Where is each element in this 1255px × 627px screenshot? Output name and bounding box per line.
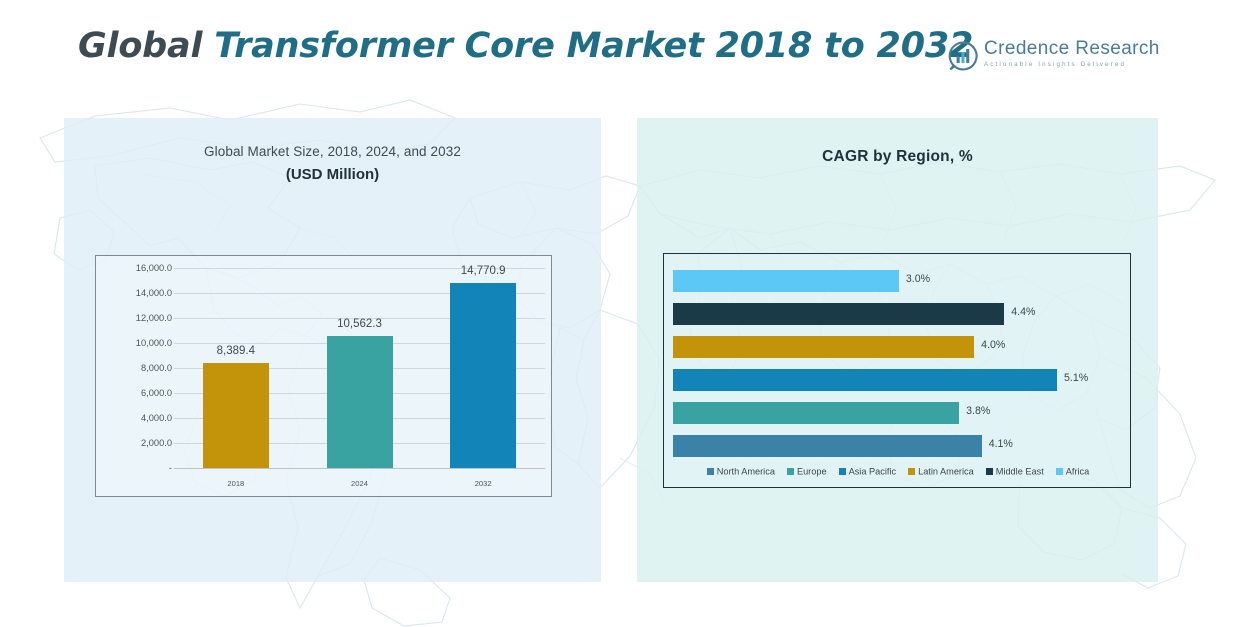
logo-text-block: Credence Research Actionable Insights De…	[984, 38, 1140, 68]
legend-label: Latin America	[918, 467, 974, 477]
y-axis-tick-label: 16,000.0	[110, 263, 172, 273]
legend-item[interactable]: Latin America	[908, 466, 974, 477]
legend-swatch	[986, 468, 993, 475]
right-chart-heading: CAGR by Region, %	[637, 148, 1158, 166]
y-axis-tick-label: 12,000.0	[110, 313, 172, 323]
cagr-value-label: 5.1%	[1064, 372, 1088, 384]
y-axis-tick-label: -	[110, 463, 172, 473]
left-chart-heading-line2: (USD Million)	[64, 166, 601, 183]
market-size-bar-group: 14,770.92032	[450, 283, 516, 468]
legend-label: Europe	[797, 467, 827, 477]
cagr-bar-row: 4.4%	[673, 300, 1123, 331]
legend-swatch	[908, 468, 915, 475]
y-axis-tick-label: 2,000.0	[110, 438, 172, 448]
bar-value-label: 8,389.4	[185, 345, 287, 357]
legend-swatch	[707, 468, 714, 475]
y-axis-tick-labels: 16,000.014,000.012,000.010,000.08,000.06…	[102, 256, 172, 498]
header: Global Transformer Core Market 2018 to 2…	[0, 0, 1255, 96]
cagr-bar-row: 5.1%	[673, 366, 1123, 397]
cagr-bar	[673, 369, 1057, 391]
legend-item[interactable]: North America	[707, 466, 775, 477]
cagr-value-label: 3.0%	[906, 273, 930, 285]
x-axis-tick-label: 2024	[309, 479, 411, 488]
page-title-part-1: Global	[78, 26, 214, 66]
legend-item[interactable]: Asia Pacific	[839, 466, 897, 477]
left-chart-heading: Global Market Size, 2018, 2024, and 2032…	[64, 144, 601, 183]
legend-swatch	[787, 468, 794, 475]
legend-label: Middle East	[996, 467, 1044, 477]
cagr-bar-row: 4.0%	[673, 333, 1123, 364]
cagr-bar	[673, 336, 974, 358]
bar-value-label: 14,770.9	[432, 265, 534, 277]
market-size-bar-group: 8,389.42018	[203, 363, 269, 468]
market-size-bar-chart: 16,000.014,000.012,000.010,000.08,000.06…	[95, 255, 552, 497]
x-axis-tick-label: 2018	[185, 479, 287, 488]
y-axis-tick-label: 8,000.0	[110, 363, 172, 373]
cagr-by-region-bar-chart: 3.0%4.4%4.0%5.1%3.8%4.1% North AmericaEu…	[663, 253, 1131, 488]
logo-tagline: Actionable Insights Delivered	[984, 61, 1140, 68]
legend-item[interactable]: Middle East	[986, 466, 1044, 477]
cagr-bar-row: 3.0%	[673, 267, 1123, 298]
cagr-bar-rows: 3.0%4.4%4.0%5.1%3.8%4.1%	[673, 267, 1123, 465]
infographic-canvas: Global Transformer Core Market 2018 to 2…	[0, 0, 1255, 627]
legend-swatch	[1056, 468, 1063, 475]
y-axis-tick-label: 6,000.0	[110, 388, 172, 398]
circle-bar-chart-icon	[948, 41, 978, 71]
legend-label: Asia Pacific	[849, 467, 897, 477]
x-axis-line	[174, 468, 545, 469]
legend-label: Africa	[1066, 467, 1090, 477]
cagr-value-label: 4.1%	[989, 438, 1013, 450]
legend-swatch	[839, 468, 846, 475]
credence-research-logo[interactable]: Credence Research Actionable Insights De…	[948, 40, 1138, 76]
legend-item[interactable]: Africa	[1056, 466, 1090, 477]
cagr-bar	[673, 303, 1004, 325]
market-size-bar	[327, 336, 393, 468]
cagr-value-label: 3.8%	[966, 405, 990, 417]
cagr-bar	[673, 435, 982, 457]
y-axis-tick-label: 4,000.0	[110, 413, 172, 423]
cagr-bar-row: 4.1%	[673, 432, 1123, 463]
cagr-bar	[673, 270, 899, 292]
bar-value-label: 10,562.3	[309, 318, 411, 330]
page-title: Global Transformer Core Market 2018 to 2…	[78, 26, 973, 66]
cagr-legend: North AmericaEuropeAsia PacificLatin Ame…	[664, 461, 1132, 479]
cagr-bar	[673, 402, 959, 424]
cagr-value-label: 4.4%	[1011, 306, 1035, 318]
logo-name: Credence Research	[984, 38, 1140, 60]
legend-label: North America	[717, 467, 775, 477]
market-size-bar	[450, 283, 516, 468]
y-axis-tick-label: 14,000.0	[110, 288, 172, 298]
market-size-bar	[203, 363, 269, 468]
cagr-bar-row: 3.8%	[673, 399, 1123, 430]
x-axis-tick-label: 2032	[432, 479, 534, 488]
left-chart-plot-area: 8,389.4201810,562.3202414,770.92032	[174, 256, 545, 498]
y-axis-tick-label: 10,000.0	[110, 338, 172, 348]
cagr-value-label: 4.0%	[981, 339, 1005, 351]
market-size-bar-group: 10,562.32024	[327, 336, 393, 468]
legend-item[interactable]: Europe	[787, 466, 827, 477]
left-chart-heading-line1: Global Market Size, 2018, 2024, and 2032	[64, 144, 601, 159]
page-title-part-2: Transformer Core Market 2018 to 2032	[214, 26, 973, 66]
